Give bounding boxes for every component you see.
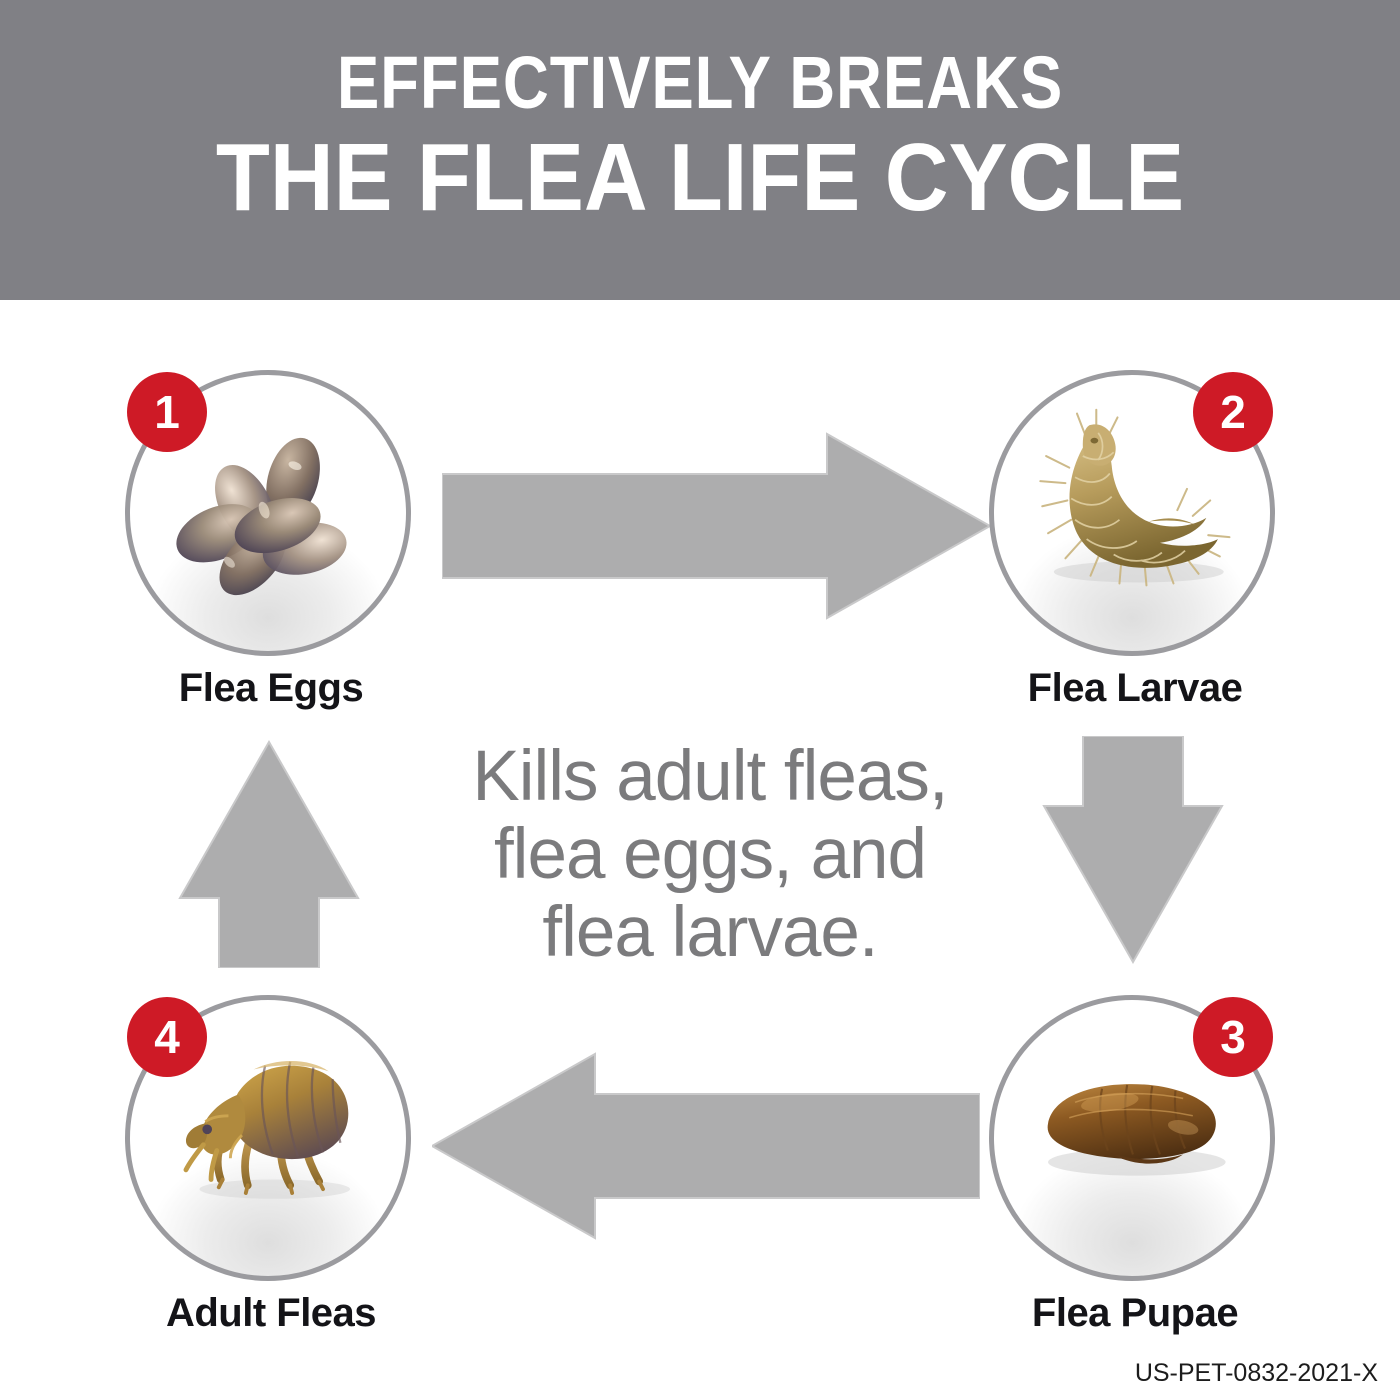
stage-label-flea-pupae: Flea Pupae bbox=[929, 1291, 1341, 1336]
flea-life-cycle-infographic: EFFECTIVELY BREAKS THE FLEA LIFE CYCLE bbox=[0, 0, 1400, 1400]
stage-flea-larvae[interactable]: 2 Flea Larvae bbox=[989, 370, 1281, 656]
stage-circle: 3 bbox=[989, 995, 1275, 1281]
header-title-line-2: THE FLEA LIFE CYCLE bbox=[56, 130, 1344, 226]
arrow-pupae-to-adults bbox=[432, 1050, 980, 1242]
footer-document-code: US-PET-0832-2021-X bbox=[1135, 1359, 1378, 1388]
arrow-larvae-to-pupae bbox=[1042, 736, 1224, 964]
stage-circle: 4 bbox=[125, 995, 411, 1281]
center-claim-line-2: flea eggs, and bbox=[400, 816, 1020, 894]
header-title-line-1: EFFECTIVELY BREAKS bbox=[98, 46, 1302, 120]
stage-badge-3: 3 bbox=[1193, 997, 1273, 1077]
center-claim-text: Kills adult fleas, flea eggs, and flea l… bbox=[400, 738, 1020, 972]
stage-circle: 2 bbox=[989, 370, 1275, 656]
stage-badge-4: 4 bbox=[127, 997, 207, 1077]
arrow-eggs-to-larvae bbox=[442, 430, 990, 622]
stage-label-flea-eggs: Flea Eggs bbox=[65, 666, 477, 711]
header-band: EFFECTIVELY BREAKS THE FLEA LIFE CYCLE bbox=[0, 0, 1400, 300]
stage-badge-1: 1 bbox=[127, 372, 207, 452]
stage-flea-eggs[interactable]: 1 Flea Eggs bbox=[125, 370, 417, 656]
stage-circle: 1 bbox=[125, 370, 411, 656]
stage-label-flea-larvae: Flea Larvae bbox=[929, 666, 1341, 711]
center-claim-line-3: flea larvae. bbox=[400, 894, 1020, 972]
stage-badge-2: 2 bbox=[1193, 372, 1273, 452]
stage-flea-pupae[interactable]: 3 Flea Pupae bbox=[989, 995, 1281, 1281]
stage-label-adult-fleas: Adult Fleas bbox=[65, 1291, 477, 1336]
arrow-adults-to-eggs bbox=[178, 740, 360, 968]
center-claim-line-1: Kills adult fleas, bbox=[400, 738, 1020, 816]
stage-adult-fleas[interactable]: 4 Adult Fleas bbox=[125, 995, 417, 1281]
